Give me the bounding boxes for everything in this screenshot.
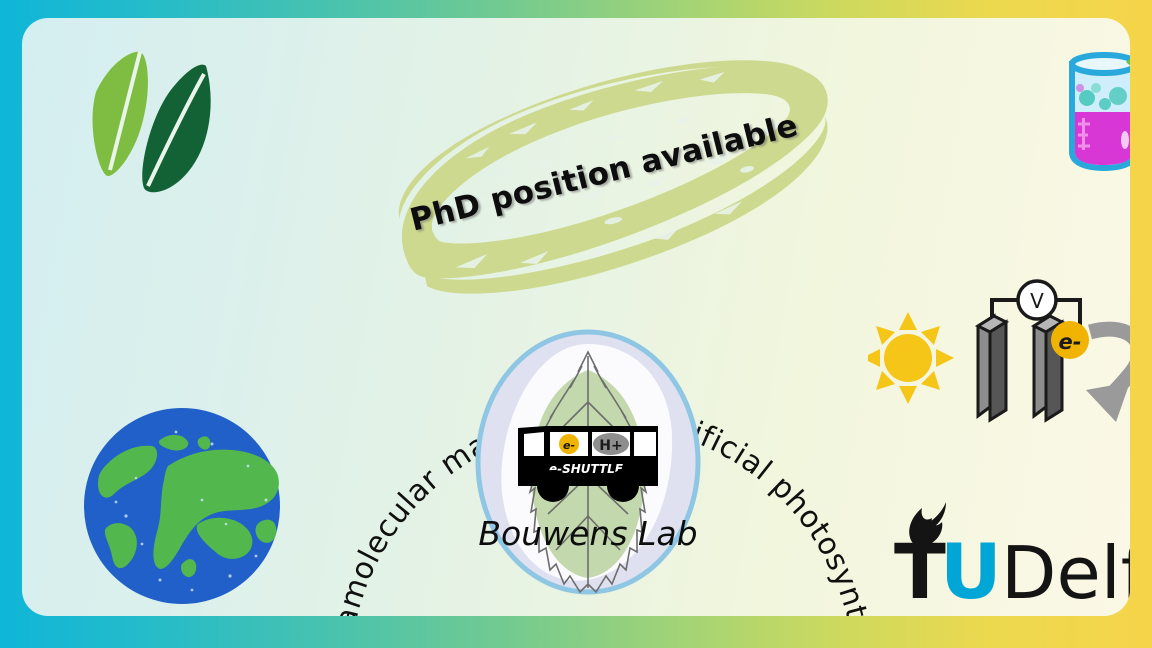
photoelectrochemical-cell-icon: V e- bbox=[868, 270, 1130, 430]
beaker-rim bbox=[1072, 55, 1130, 73]
leaf-light bbox=[93, 52, 148, 176]
tu-delft-logo: T U Delft bbox=[888, 494, 1130, 606]
leaves-icon bbox=[66, 36, 236, 201]
beaker-icon bbox=[1054, 40, 1130, 175]
lab-name: Bouwens Lab bbox=[478, 514, 697, 553]
van-wheel bbox=[537, 470, 569, 502]
poster-canvas: PhD position available Supramolecular ma… bbox=[0, 0, 1152, 648]
tudelft-u: U bbox=[940, 527, 1002, 606]
sun-icon bbox=[868, 312, 954, 404]
van-wheel bbox=[607, 470, 639, 502]
beaker-highlight bbox=[1121, 131, 1129, 149]
electron-badge-label: e- bbox=[1059, 330, 1082, 354]
proton-badge-label: H+ bbox=[599, 438, 622, 454]
poster-card: PhD position available Supramolecular ma… bbox=[22, 18, 1130, 616]
tudelft-t: T bbox=[894, 527, 946, 606]
curved-arrow-icon bbox=[1086, 329, 1130, 422]
globe-icon bbox=[80, 404, 284, 608]
electrode-left bbox=[978, 316, 1006, 420]
electron-badge-label: e- bbox=[563, 439, 575, 452]
tudelft-delft: Delft bbox=[1001, 531, 1130, 606]
electron-badge: e- bbox=[1051, 321, 1089, 359]
voltmeter-label: V bbox=[1030, 289, 1044, 313]
bouwens-lab-logo: e- H+ e-SHUTTLE Bouwens Lab bbox=[474, 326, 702, 598]
